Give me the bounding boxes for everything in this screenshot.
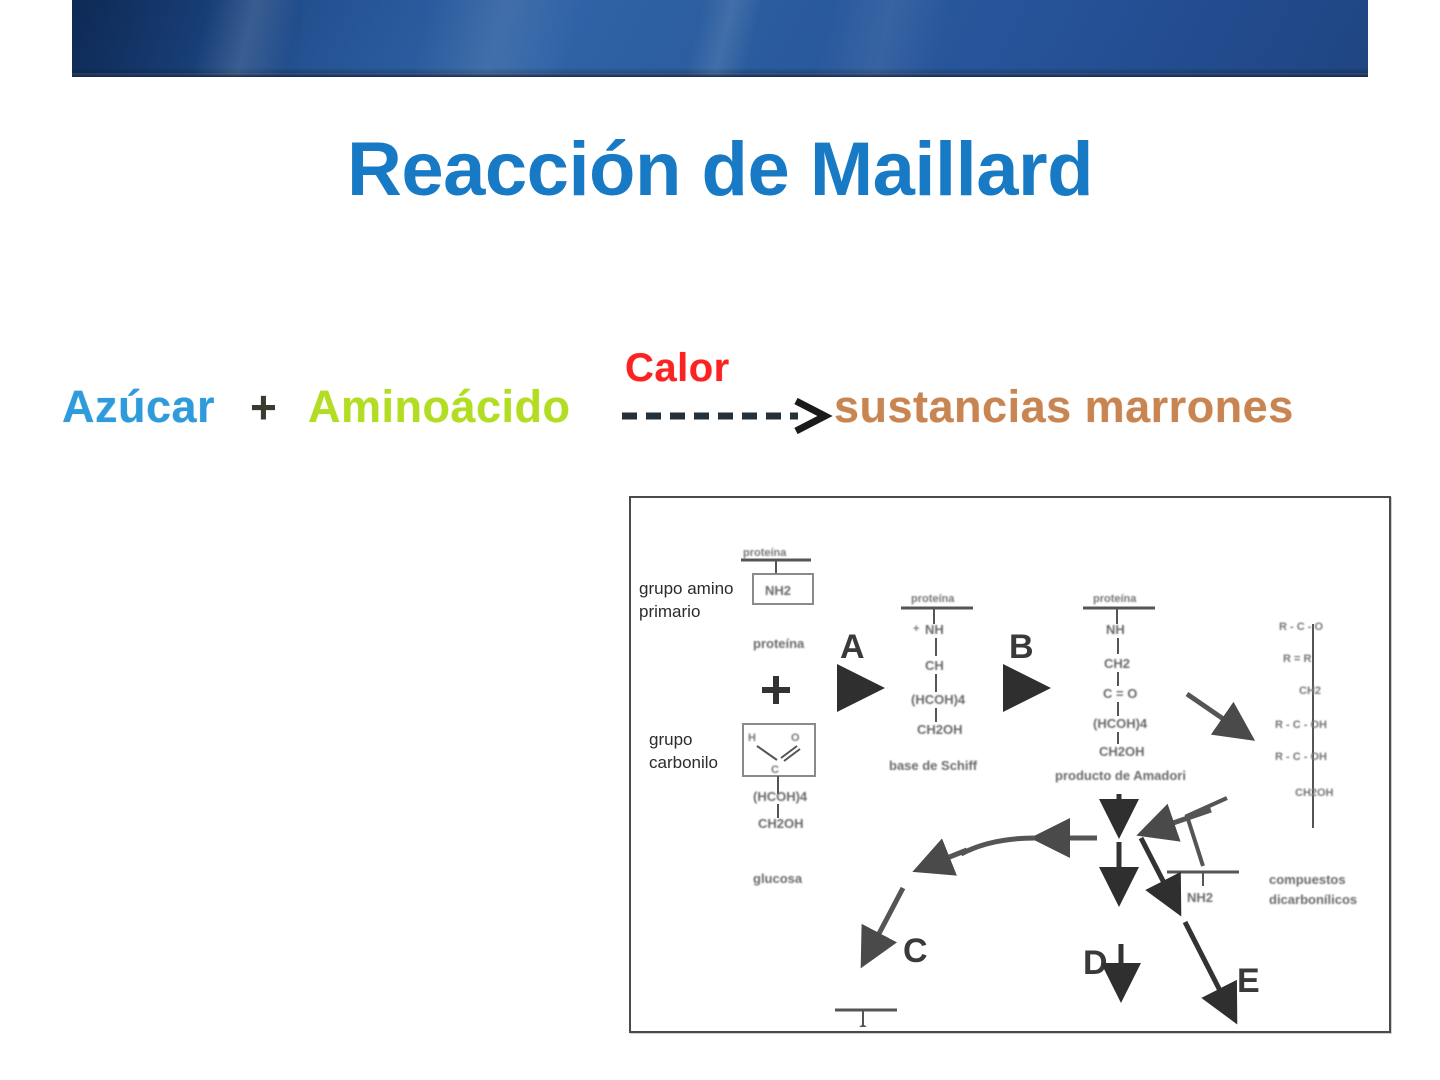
label-protein: proteína: [753, 636, 805, 651]
label-nh2-release: NH2: [1187, 890, 1213, 905]
banner-bottom-sheen: [72, 73, 1368, 77]
equation-reactant-aminoacid: Aminoácido: [308, 384, 571, 429]
label-dic-rh: R = R: [1283, 653, 1311, 665]
dicarbonyl-structure: R - C - O R = R CH2 R - C - OH R - C - O…: [1275, 621, 1334, 828]
banner-shadow-wedge: [72, 0, 302, 77]
label-schiff-hcoh4: (HCOH)4: [911, 692, 966, 707]
stage-label-b: B: [1009, 628, 1034, 666]
equation-condition-heat: Calor: [625, 348, 730, 388]
label-grupo-carbonilo-line1: grupo: [649, 730, 692, 749]
diagram-canvas: grupo amino primario proteína NH2 proteí…: [631, 498, 1385, 1027]
equation-plus-operator: +: [250, 384, 277, 430]
label-amadori-hcoh4: (HCOH)4: [1093, 716, 1148, 731]
banner-streak-1: [186, 0, 307, 77]
arrow-curve-to-c: [961, 838, 1035, 854]
label-c-atom: C: [771, 764, 779, 776]
label-nh2-box: NH2: [765, 583, 791, 598]
maillard-equation: Azúcar + Aminoácido Calor sustancias mar…: [60, 348, 1380, 448]
label-schiff-ch: CH: [925, 658, 944, 673]
equation-product-brown-substances: sustancias marrones: [834, 384, 1294, 429]
arrow-curve-head-c: [917, 850, 967, 870]
arrow-stage-e-2: [1185, 922, 1235, 1020]
label-ch2oh-glucose: CH2OH: [758, 816, 804, 831]
arrow-stage-e-1: [1141, 838, 1179, 912]
arrow-to-stage-c: [863, 888, 903, 964]
label-hcoh4-glucose: (HCOH)4: [753, 789, 808, 804]
label-schiff-nh: NH: [925, 622, 944, 637]
label-amadori-co: C = O: [1103, 686, 1137, 701]
label-schiff-protein: proteína: [911, 593, 955, 605]
label-dic-ch2: CH2: [1299, 685, 1321, 697]
arrow-amadori-to-dicarbonyl: [1187, 694, 1251, 738]
banner-streak-3: [678, 0, 770, 77]
banner-streak-4: [809, 0, 959, 77]
stage-label-c: C: [903, 932, 928, 970]
stage-label-a: A: [840, 628, 865, 666]
label-h-atom: H: [748, 732, 756, 744]
label-dic-rco: R - C - O: [1279, 621, 1323, 633]
product-ring-c: [817, 1010, 909, 1027]
label-dicarbonilicos-line2: dicarbonílicos: [1269, 892, 1357, 907]
equation-reactant-sugar: Azúcar: [62, 384, 215, 429]
label-amadori-ch2: CH2: [1104, 656, 1130, 671]
label-amadori-protein: proteína: [1093, 593, 1137, 605]
page-title: Reacción de Maillard: [0, 132, 1440, 208]
stage-label-d: D: [1083, 944, 1108, 982]
equation-dashed-arrow-icon: [620, 398, 840, 434]
label-grupo-amino-line1: grupo amino: [639, 579, 734, 598]
arrow-nh2-path: [1187, 798, 1227, 866]
banner-streak-2: [407, 0, 586, 77]
label-amadori-ch2oh: CH2OH: [1099, 744, 1145, 759]
label-grupo-carbonilo-line2: carbonilo: [649, 753, 718, 772]
label-protein-top: proteína: [743, 547, 787, 559]
slide-header-banner: [72, 0, 1368, 77]
arrow-dicarbonyl-to-amadori: [1141, 810, 1211, 834]
label-base-de-schiff: base de Schiff: [889, 758, 978, 773]
label-compuestos-line1: compuestos: [1269, 872, 1346, 887]
label-producto-de-amadori: producto de Amadori: [1055, 768, 1186, 783]
maillard-pathway-diagram: grupo amino primario proteína NH2 proteí…: [629, 496, 1391, 1033]
diagram-plus-icon: [762, 676, 790, 704]
label-dic-rcoh-2: R - C - OH: [1275, 751, 1327, 763]
label-amadori-nh: NH: [1106, 622, 1125, 637]
label-schiff-charge: +: [913, 623, 919, 635]
label-glucosa: glucosa: [753, 871, 803, 886]
stage-label-e: E: [1237, 962, 1260, 1000]
label-grupo-amino-line2: primario: [639, 602, 700, 621]
label-schiff-ch2oh: CH2OH: [917, 722, 963, 737]
label-dic-rcoh-1: R - C - OH: [1275, 719, 1327, 731]
label-dic-ch2oh: CH2OH: [1295, 787, 1334, 799]
label-o-atom: O: [791, 732, 800, 744]
